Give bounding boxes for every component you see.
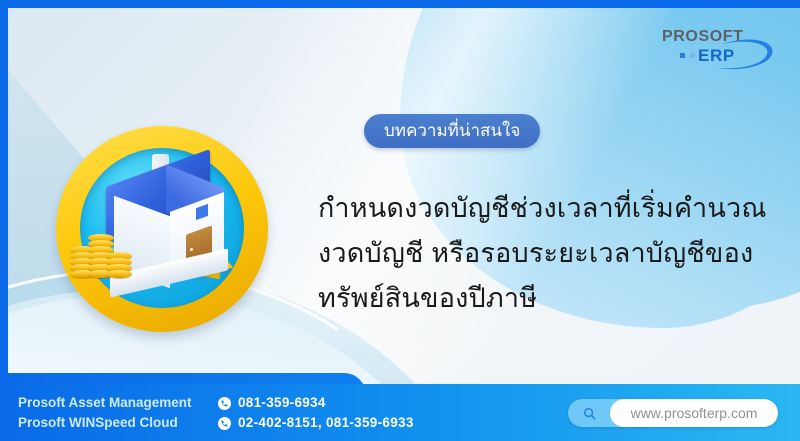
article-badge: บทความที่น่าสนใจ: [364, 114, 540, 148]
contact-phone-1[interactable]: 081-359-6934: [238, 393, 326, 413]
headline-line-3: ทรัพย์สินของปีภาษี: [318, 276, 788, 321]
website-search-bar[interactable]: www.prosofterp.com: [568, 399, 778, 427]
prosoft-erp-logo[interactable]: PROSOFT ERP: [662, 26, 782, 76]
contact-label-1: Prosoft Asset Management: [18, 393, 218, 413]
logo-text-erp: ERP: [698, 46, 735, 66]
phone-icon: [218, 417, 231, 430]
headline-line-1: กำหนดงวดบัญชีช่วงเวลาที่เริ่มคำนวณ: [318, 186, 788, 231]
logo-square-2: [690, 53, 695, 58]
promo-banner: PROSOFT ERP: [0, 0, 800, 441]
house-with-coins-refresh-icon: [48, 120, 278, 345]
contact-row-1: Prosoft Asset Management 081-359-6934: [18, 393, 414, 413]
coin-stack-3: [106, 254, 132, 278]
phone-icon: [218, 397, 231, 410]
headline: กำหนดงวดบัญชีช่วงเวลาที่เริ่มคำนวณ งวดบั…: [318, 186, 788, 321]
headline-line-2: งวดบัญชี หรือรอบระยะเวลาบัญชีของ: [318, 231, 788, 276]
logo-square-1: [680, 53, 685, 58]
search-icon[interactable]: [568, 399, 610, 427]
door-knob: [190, 248, 193, 251]
logo-text-prosoft: PROSOFT: [662, 28, 744, 46]
contact-row-2: Prosoft WINSpeed Cloud 02-402-8151, 081-…: [18, 413, 414, 433]
website-url[interactable]: www.prosofterp.com: [610, 399, 778, 427]
coin-stack-icon: [70, 230, 140, 278]
footer-contacts: Prosoft Asset Management 081-359-6934 Pr…: [18, 393, 414, 433]
contact-phone-2[interactable]: 02-402-8151, 081-359-6933: [238, 413, 414, 433]
contact-label-2: Prosoft WINSpeed Cloud: [18, 413, 218, 433]
